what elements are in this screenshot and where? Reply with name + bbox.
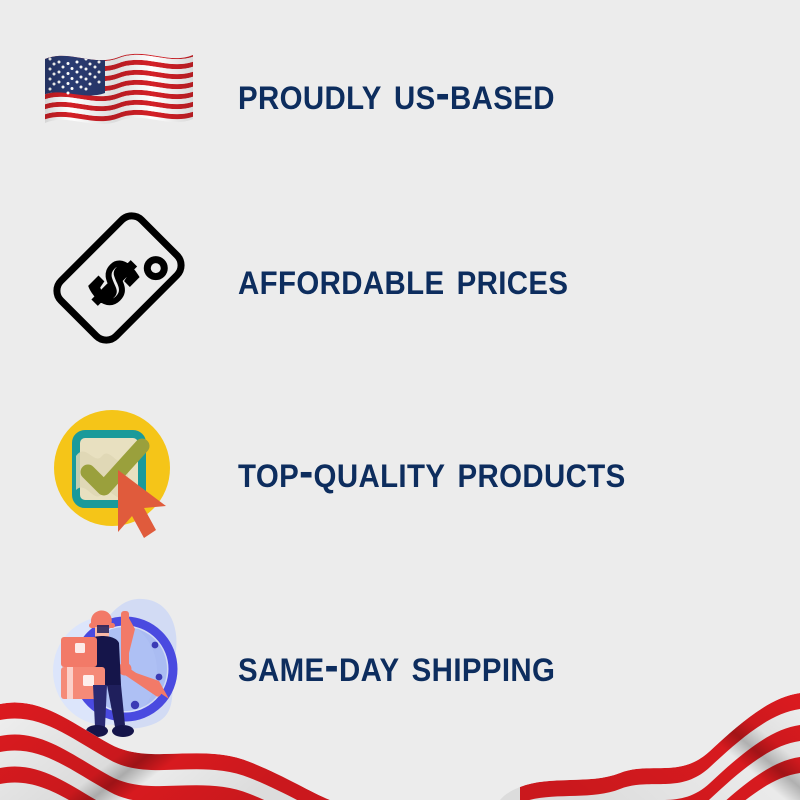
- checkbox-cursor-icon: [0, 378, 238, 563]
- feature-label-slot: Affordable Prices: [238, 255, 800, 301]
- feature-label-slot: Proudly US-Based: [238, 70, 800, 116]
- feature-item-same-day-shipping: Same-day shipping: [0, 572, 800, 757]
- feature-label-proudly-us-based: Proudly US-Based: [238, 70, 555, 116]
- us-flag-icon: [0, 0, 238, 185]
- svg-text:$: $: [79, 247, 149, 317]
- feature-label-same-day-shipping: Same-day shipping: [238, 642, 555, 688]
- feature-list: Proudly US-Based $ Affordable Prices: [0, 0, 800, 800]
- feature-label-slot: Same-day shipping: [238, 642, 800, 688]
- promo-graphic: Proudly US-Based $ Affordable Prices: [0, 0, 800, 800]
- feature-item-affordable-prices: $ Affordable Prices: [0, 185, 800, 370]
- feature-label-top-quality-products: Top-Quality Products: [238, 448, 626, 494]
- delivery-clock-icon: [0, 572, 238, 757]
- feature-item-top-quality-products: Top-Quality Products: [0, 378, 800, 563]
- feature-label-affordable-prices: Affordable Prices: [238, 255, 568, 301]
- feature-item-proudly-us-based: Proudly US-Based: [0, 0, 800, 185]
- feature-label-slot: Top-Quality Products: [238, 448, 800, 494]
- price-tag-icon: $: [0, 185, 238, 370]
